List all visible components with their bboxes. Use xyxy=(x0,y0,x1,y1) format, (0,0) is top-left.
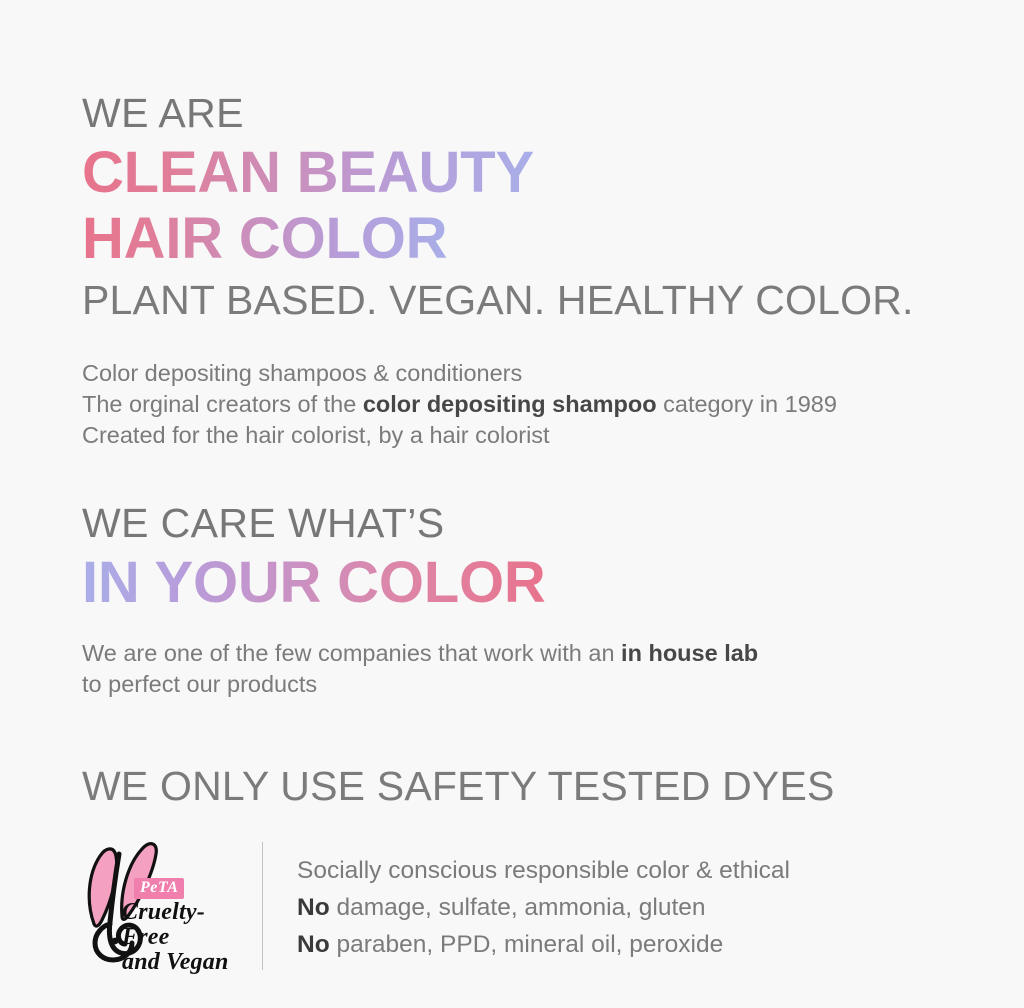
claim-line-2-emphasis: No xyxy=(297,894,330,921)
dyes-headline: WE ONLY USE SAFETY TESTED DYES xyxy=(82,758,964,814)
hero-kicker: WE ARE xyxy=(82,86,964,140)
intro-line-2: The orginal creators of the color deposi… xyxy=(82,389,964,420)
claim-line-3-emphasis: No xyxy=(297,931,330,958)
claim-line-1: Socially conscious responsible color & e… xyxy=(297,852,964,889)
care-section: WE CARE WHAT’S IN YOUR COLOR xyxy=(82,496,964,616)
peta-badge: PeTA xyxy=(134,878,184,899)
care-copy-line-1: We are one of the few companies that wor… xyxy=(82,638,964,669)
care-copy-emphasis: in house lab xyxy=(621,640,758,666)
vertical-divider xyxy=(262,842,263,970)
peta-cruelty-free-logo: PeTA Cruelty-Free and Vegan xyxy=(82,840,250,966)
claim-line-3-rest: paraben, PPD, mineral oil, peroxide xyxy=(330,931,724,958)
intro-line-3: Created for the hair colorist, by a hair… xyxy=(82,420,964,451)
intro-line-1: Color depositing shampoos & conditioners xyxy=(82,358,964,389)
certification-row: PeTA Cruelty-Free and Vegan Socially con… xyxy=(82,840,964,970)
hero-headline-line-2: HAIR COLOR xyxy=(82,206,447,272)
care-copy-prefix: We are one of the few companies that wor… xyxy=(82,640,621,666)
care-copy-line-2: to perfect our products xyxy=(82,669,964,700)
hero-headline-line-1: CLEAN BEAUTY xyxy=(82,140,534,206)
intro-line-2-emphasis: color depositing shampoo xyxy=(363,391,657,417)
care-kicker: WE CARE WHAT’S xyxy=(82,496,964,550)
intro-line-2-prefix: The orginal creators of the xyxy=(82,391,363,417)
claim-line-2-rest: damage, sulfate, ammonia, gluten xyxy=(330,894,706,921)
care-headline: IN YOUR COLOR xyxy=(82,550,546,616)
hero-tagline: PLANT BASED. VEGAN. HEALTHY COLOR. xyxy=(82,272,964,328)
intro-line-2-suffix: category in 1989 xyxy=(657,391,837,417)
care-copy: We are one of the few companies that wor… xyxy=(82,638,964,700)
peta-caption-line-1: Cruelty-Free xyxy=(122,900,250,950)
intro-copy: Color depositing shampoos & conditioners… xyxy=(82,358,964,451)
hero-section: WE ARE CLEAN BEAUTY HAIR COLOR PLANT BAS… xyxy=(82,0,964,328)
claim-line-3: No paraben, PPD, mineral oil, peroxide xyxy=(297,926,964,963)
marketing-page: WE ARE CLEAN BEAUTY HAIR COLOR PLANT BAS… xyxy=(0,0,1024,1008)
peta-caption-line-2: and Vegan xyxy=(122,950,250,975)
peta-badge-label: PeTA xyxy=(140,879,178,896)
claims-list: Socially conscious responsible color & e… xyxy=(297,840,964,963)
claim-line-2: No damage, sulfate, ammonia, gluten xyxy=(297,889,964,926)
peta-caption: Cruelty-Free and Vegan xyxy=(122,900,250,975)
